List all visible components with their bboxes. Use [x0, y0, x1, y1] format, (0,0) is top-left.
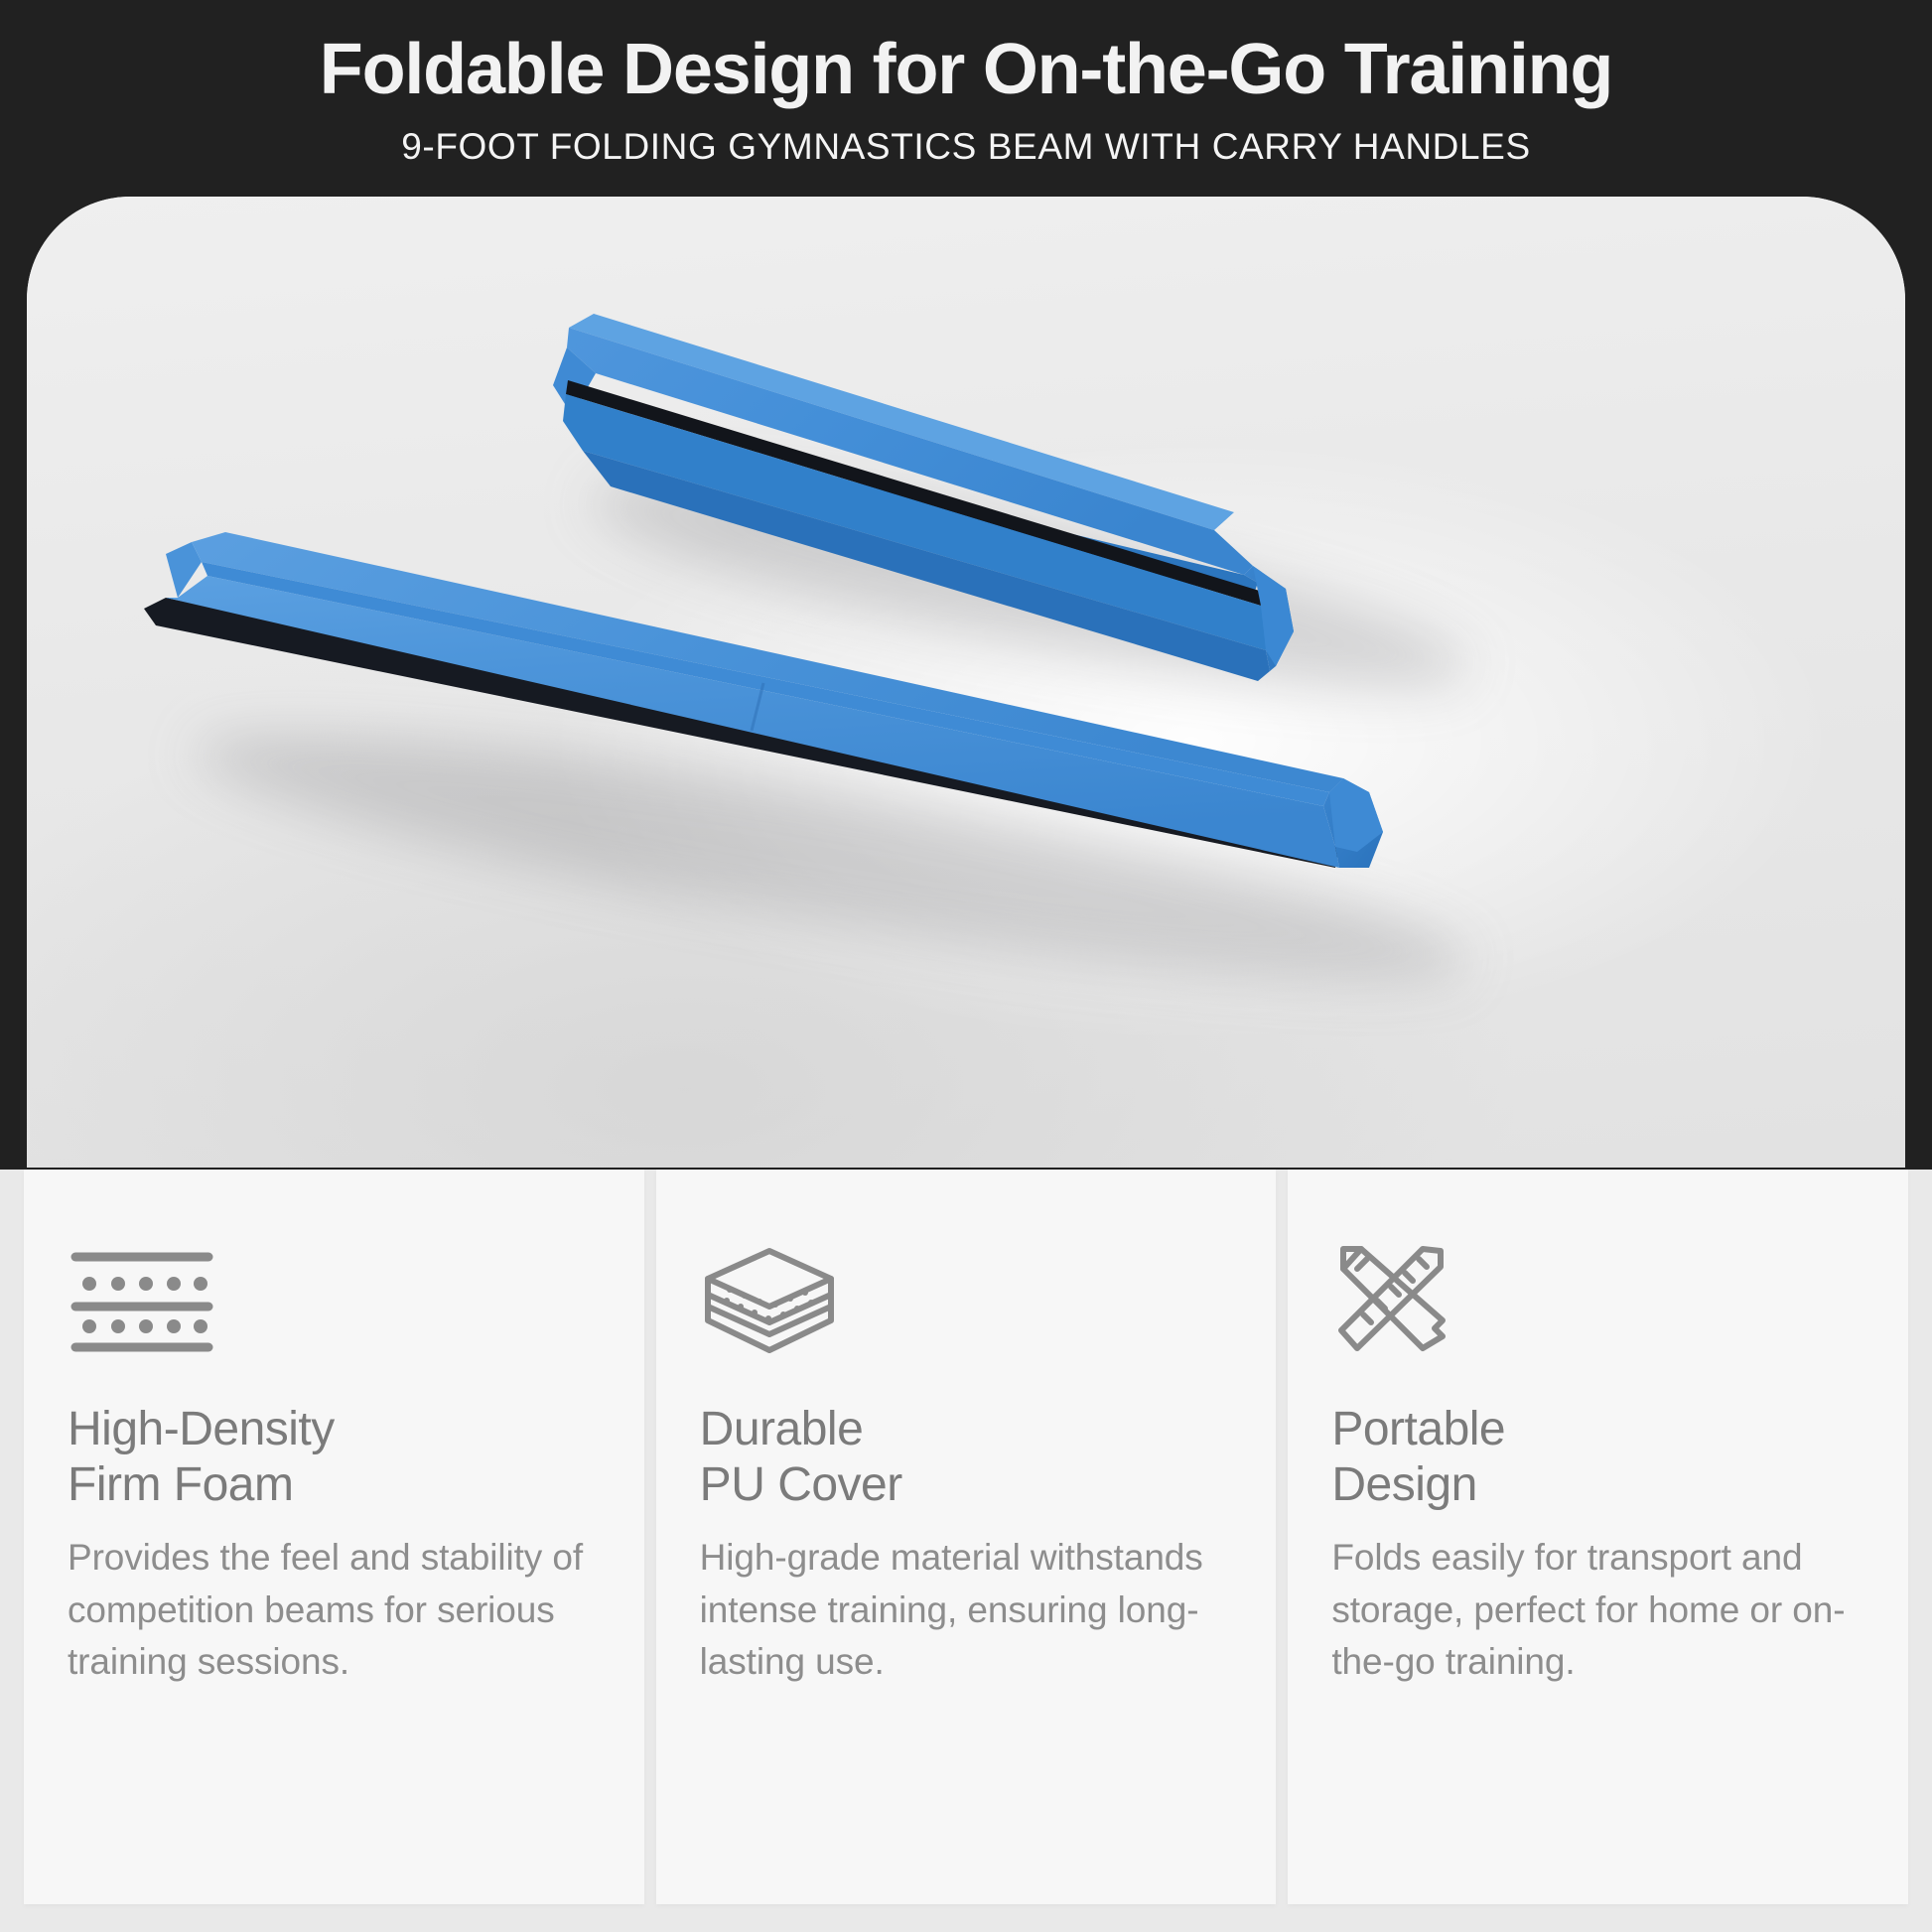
feature-card-portable-design: Portable Design Folds easily for transpo…: [1288, 1170, 1908, 1904]
foam-layers-icon: [68, 1239, 601, 1356]
feature-card-title: Durable PU Cover: [700, 1402, 1233, 1512]
feature-card-title: High-Density Firm Foam: [68, 1402, 601, 1512]
feature-cards-row: High-Density Firm Foam Provides the feel…: [0, 1170, 1932, 1932]
feature-card-durable-pu-cover: Durable PU Cover High-grade material wit…: [656, 1170, 1277, 1904]
feature-card-body: High-grade material withstands intense t…: [700, 1532, 1233, 1689]
infographic-page: Foldable Design for On-the-Go Training 9…: [0, 0, 1932, 1932]
feature-card-high-density-firm-foam: High-Density Firm Foam Provides the feel…: [24, 1170, 644, 1904]
feature-card-body: Folds easily for transport and storage, …: [1331, 1532, 1864, 1689]
feature-card-title: Portable Design: [1331, 1402, 1864, 1512]
hero-product-panel: [27, 197, 1905, 1168]
product-illustration: [27, 197, 1905, 1168]
page-subtitle: 9-FOOT FOLDING GYMNASTICS BEAM WITH CARR…: [401, 126, 1531, 168]
page-title: Foldable Design for On-the-Go Training: [320, 32, 1612, 107]
pencil-ruler-icon: [1331, 1239, 1864, 1356]
cushion-layer-icon: [700, 1239, 1233, 1356]
folded-beam: [553, 314, 1294, 681]
feature-card-body: Provides the feel and stability of compe…: [68, 1532, 601, 1689]
